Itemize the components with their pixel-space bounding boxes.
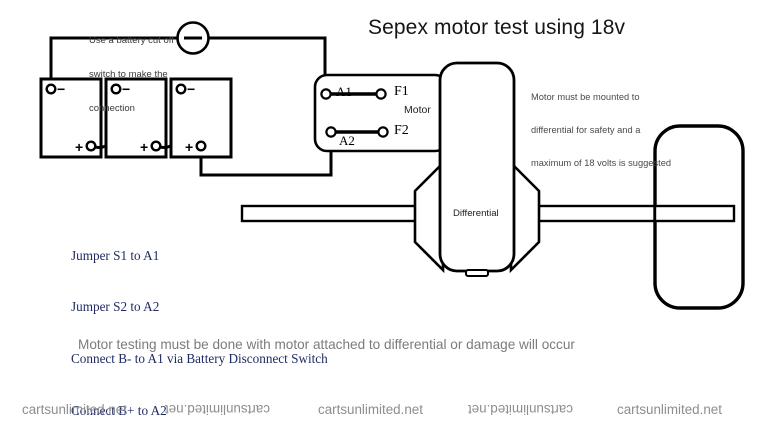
- switch-note-line-1: Use a battery cut off: [89, 35, 174, 46]
- page-title: Sepex motor test using 18v: [368, 16, 625, 41]
- watermark: cartsunlimited.net: [22, 402, 127, 417]
- switch-note-line-3: connection: [89, 103, 174, 114]
- watermark: cartsunlimited.net: [318, 402, 423, 417]
- watermark-strip: cartsunlimited.net cartsunlimited.net ca…: [0, 402, 779, 428]
- motor-terminal-label-f1: F1: [394, 84, 409, 100]
- motor-terminal-label-a2: A2: [339, 133, 355, 149]
- mounting-note: Motor must be mounted to differential fo…: [531, 70, 671, 191]
- warning-caption: Motor testing must be done with motor at…: [78, 337, 575, 353]
- battery-3-negative-label: −: [187, 81, 195, 97]
- battery-2-negative-label: −: [122, 81, 130, 97]
- mount-note-line-3: maximum of 18 volts is suggested: [531, 158, 671, 169]
- differential-bottom-tab: [466, 270, 488, 276]
- watermark: cartsunlimited.net: [468, 402, 573, 417]
- axle-right-stub: [655, 206, 734, 221]
- battery-cell-3: [171, 79, 231, 157]
- switch-note: Use a battery cut off switch to make the…: [89, 13, 174, 136]
- instruction-line-1: Jumper S1 to A1: [71, 247, 328, 264]
- mount-note-line-1: Motor must be mounted to: [531, 92, 671, 103]
- instruction-line-2: Jumper S2 to A2: [71, 298, 328, 315]
- differential-label: Differential: [453, 208, 499, 219]
- mount-note-line-2: differential for safety and a: [531, 125, 671, 136]
- wiring-instructions: Jumper S1 to A1 Jumper S2 to A2 Connect …: [71, 212, 328, 433]
- battery-2-positive-label: +: [140, 139, 148, 155]
- differential-housing: [440, 63, 514, 271]
- switch-note-line-2: switch to make the: [89, 69, 174, 80]
- watermark: cartsunlimited.net: [617, 402, 722, 417]
- battery-cutoff-switch-icon: [178, 23, 209, 54]
- battery-1-positive-label: +: [75, 139, 83, 155]
- motor-label: Motor: [404, 104, 431, 116]
- watermark: cartsunlimited.net: [165, 402, 270, 417]
- battery-1-negative-label: −: [57, 81, 65, 97]
- diagram-canvas: Sepex motor test using 18v Use a battery…: [0, 0, 779, 433]
- battery-3-positive-label: +: [185, 139, 193, 155]
- motor-terminal-label-f2: F2: [394, 123, 409, 139]
- motor-terminal-label-a1: A1: [336, 84, 352, 100]
